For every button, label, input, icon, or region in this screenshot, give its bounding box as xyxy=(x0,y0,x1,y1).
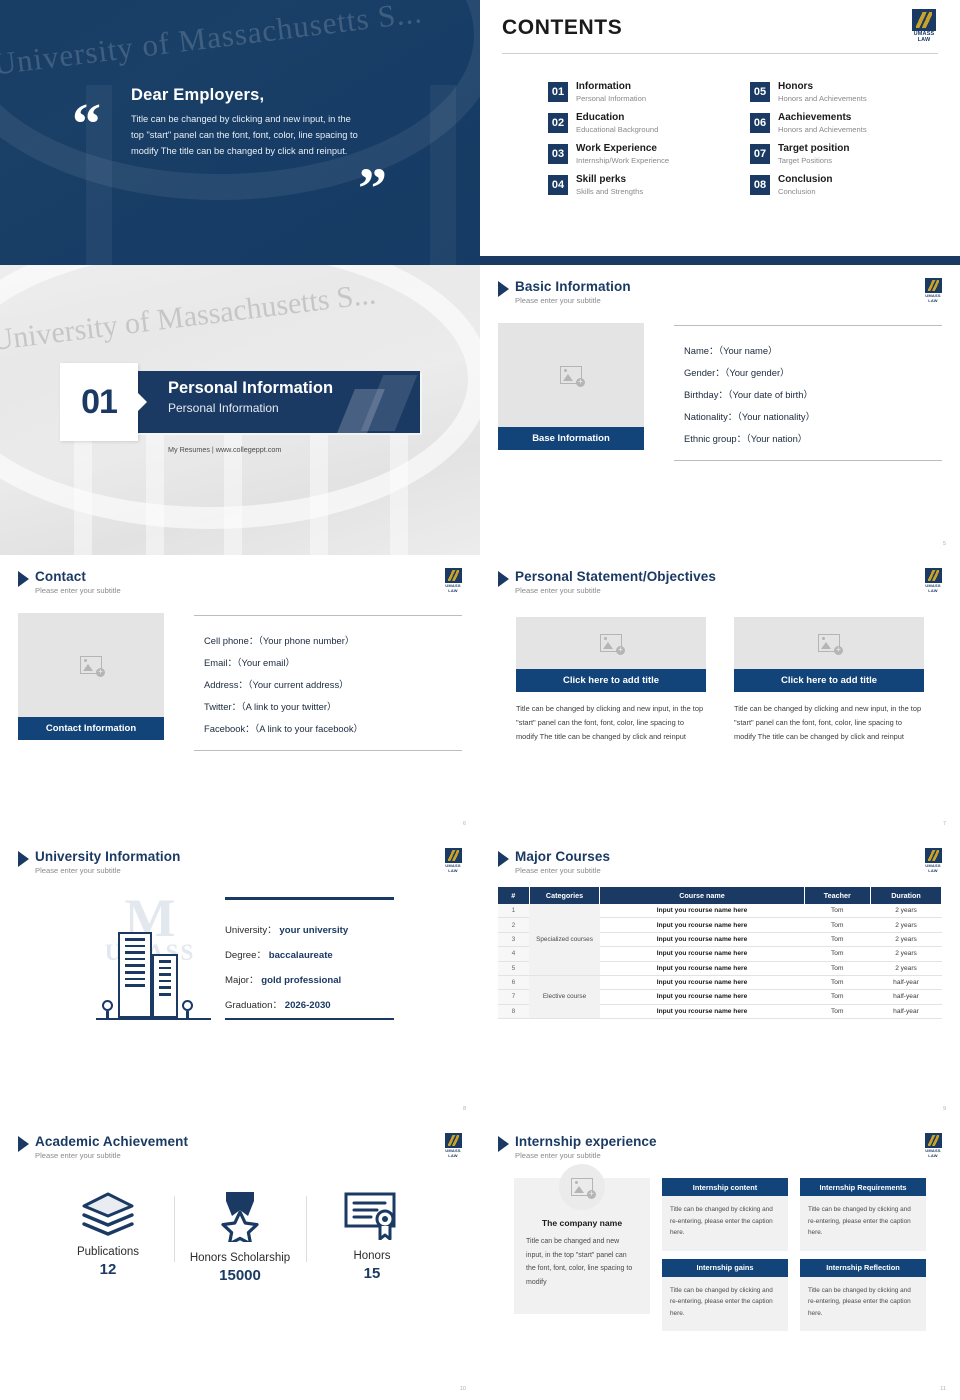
quote-open-icon: “ xyxy=(72,95,101,153)
cell-teacher: Tom xyxy=(804,918,871,932)
umass-monogram-icon xyxy=(925,848,942,863)
page-number: 7 xyxy=(943,821,946,827)
cell-duration: 2 years xyxy=(871,932,942,946)
bottom-rule xyxy=(674,460,942,461)
bottom-rule xyxy=(194,750,462,751)
cell-course: Input you rcourse name here xyxy=(600,918,804,932)
cell-duration: 2 years xyxy=(871,961,942,975)
umass-law-logo-icon: UMASS LAW xyxy=(906,7,942,45)
contact-field-facebook: Facebook：（A link to your facebook） xyxy=(204,718,462,740)
cover-quote-block: Dear Employers, Title can be changed by … xyxy=(131,86,361,159)
triangle-bullet-icon xyxy=(18,1136,29,1152)
col-course: Course name xyxy=(600,887,804,904)
cell-index: 3 xyxy=(498,932,529,946)
triangle-bullet-icon xyxy=(18,851,29,867)
contact-fields: Cell phone：（Your phone number） Email：（Yo… xyxy=(194,613,462,751)
slide-basic-information[interactable]: UMASS LAW Basic Information Please enter… xyxy=(480,265,960,555)
logo-line-2: LAW xyxy=(928,868,938,873)
photo-card[interactable]: + Base Information xyxy=(498,323,644,461)
info-field-ethnic-group: Ethnic group：（Your nation） xyxy=(684,428,942,450)
internship-card-content[interactable]: Internship content Title can be changed … xyxy=(662,1178,788,1251)
toc-number-badge: 01 xyxy=(548,82,568,102)
cell-teacher: Tom xyxy=(804,975,871,989)
statement-card-text: Title can be changed by clicking and new… xyxy=(516,702,706,744)
chevron-right-icon xyxy=(138,393,147,411)
toc-number-badge: 06 xyxy=(750,113,770,133)
internship-card-grid: Internship content Title can be changed … xyxy=(662,1178,926,1331)
contact-field-email: Email：（Your email） xyxy=(204,652,462,674)
certificate-icon xyxy=(343,1190,401,1240)
umass-law-logo-icon: UMASS LAW xyxy=(920,277,946,303)
toc-item-subtitle: Honors and Achievements xyxy=(778,124,867,135)
stat-label: Honors xyxy=(306,1250,438,1262)
quote-close-icon: ” xyxy=(358,160,387,218)
medal-icon xyxy=(212,1190,268,1242)
contents-bottom-bar xyxy=(480,256,960,265)
slide-internship-experience[interactable]: UMASS LAW Internship experience Please e… xyxy=(480,1120,960,1400)
page-number: 10 xyxy=(460,1386,466,1392)
logo-line-2: LAW xyxy=(448,588,458,593)
toc-item-title: Education xyxy=(576,112,658,124)
column-decoration-right xyxy=(430,85,456,265)
image-placeholder[interactable]: + xyxy=(559,1164,605,1210)
image-placeholder[interactable]: + xyxy=(18,613,164,717)
divider-number-badge: 01 xyxy=(60,363,138,441)
table-row: 6Elective courseInput you rcourse name h… xyxy=(498,975,942,989)
toc-item-06[interactable]: 06 Aachievements Honors and Achievements xyxy=(750,112,938,135)
card-body: Title can be changed by clicking and re-… xyxy=(662,1277,788,1332)
row-label: Graduation： xyxy=(225,1000,282,1011)
cell-teacher: Tom xyxy=(804,947,871,961)
info-field-nationality: Nationality：（Your nationality） xyxy=(684,406,942,428)
slide-header: University Information Please enter your… xyxy=(18,849,462,875)
triangle-bullet-icon xyxy=(498,1136,509,1152)
add-image-icon: + xyxy=(571,1178,593,1196)
contact-field-twitter: Twitter：（A link to your twitter） xyxy=(204,696,462,718)
internship-body: + The company name Title can be changed … xyxy=(498,1178,942,1331)
card-body: Title can be changed by clicking and re-… xyxy=(800,1196,926,1251)
cell-course: Input you rcourse name here xyxy=(600,990,804,1004)
card-heading: Internship content xyxy=(662,1178,788,1196)
image-placeholder[interactable]: + xyxy=(734,617,924,669)
statement-card-text: Title can be changed by clicking and new… xyxy=(734,702,924,744)
cell-course: Input you rcourse name here xyxy=(600,932,804,946)
row-label: Major： xyxy=(225,975,259,986)
triangle-bullet-icon xyxy=(18,571,29,587)
university-row-university: University： your university xyxy=(225,918,394,943)
umass-law-logo-icon: UMASS LAW xyxy=(920,847,946,873)
logo-line-2: LAW xyxy=(928,1153,938,1158)
slide-personal-statement[interactable]: UMASS LAW Personal Statement/Objectives … xyxy=(480,555,960,835)
add-image-icon: + xyxy=(560,366,582,384)
stat-value: 15 xyxy=(306,1265,438,1282)
image-placeholder[interactable]: + xyxy=(498,323,644,427)
toc-item-subtitle: Skills and Strengths xyxy=(576,186,643,197)
page-subtitle: Please enter your subtitle xyxy=(35,1151,188,1160)
campus-buildings-icon xyxy=(96,921,211,1026)
logo-line-2: LAW xyxy=(448,1153,458,1158)
page-title: Academic Achievement xyxy=(35,1134,188,1149)
info-field-gender: Gender：（Your gender） xyxy=(684,362,942,384)
toc-item-04[interactable]: 04 Skill perks Skills and Strengths xyxy=(548,174,736,197)
card-heading: Internship Requirements xyxy=(800,1178,926,1196)
row-value: baccalaureate xyxy=(269,950,333,961)
cell-duration: half-year xyxy=(871,975,942,989)
photo-caption-bar: Base Information xyxy=(498,427,644,450)
page-number: 8 xyxy=(463,1106,466,1112)
cell-teacher: Tom xyxy=(804,990,871,1004)
cell-teacher: Tom xyxy=(804,1004,871,1018)
slide-deck-contact-sheet: University of Massachusetts S... “ Dear … xyxy=(0,0,960,1400)
toc-item-title: Target position xyxy=(778,143,849,155)
slide-cover-dear-employers[interactable]: University of Massachusetts S... “ Dear … xyxy=(0,0,480,265)
page-title: University Information xyxy=(35,849,180,864)
toc-number-badge: 04 xyxy=(548,175,568,195)
page-subtitle: Please enter your subtitle xyxy=(515,866,610,875)
umass-monogram-icon xyxy=(445,568,462,583)
card-body: Title can be changed by clicking and re-… xyxy=(662,1196,788,1251)
slide-header: Contact Please enter your subtitle xyxy=(18,569,462,595)
cell-category: Elective course xyxy=(529,975,600,1018)
cell-index: 7 xyxy=(498,990,529,1004)
stat-honors: Honors 15 xyxy=(306,1190,438,1284)
stat-value: 15000 xyxy=(174,1267,306,1284)
page-title: Contact xyxy=(35,569,121,584)
page-subtitle: Please enter your subtitle xyxy=(35,586,121,595)
col-teacher: Teacher xyxy=(804,887,871,904)
stat-label: Publications xyxy=(42,1246,174,1258)
cell-teacher: Tom xyxy=(804,961,871,975)
books-icon xyxy=(80,1190,136,1236)
triangle-bullet-icon xyxy=(498,571,509,587)
umass-monogram-icon xyxy=(925,1133,942,1148)
contents-divider-rule xyxy=(502,53,938,54)
courses-table[interactable]: # Categories Course name Teacher Duratio… xyxy=(498,887,942,1019)
toc-item-title: Honors xyxy=(778,81,867,93)
cell-index: 4 xyxy=(498,947,529,961)
cell-teacher: Tom xyxy=(804,932,871,946)
cell-duration: half-year xyxy=(871,1004,942,1018)
umass-law-logo-icon: UMASS LAW xyxy=(440,847,466,873)
page-title: Major Courses xyxy=(515,849,610,864)
toc-number-badge: 05 xyxy=(750,82,770,102)
logo-line-2: LAW xyxy=(448,868,458,873)
page-number: 11 xyxy=(940,1386,946,1392)
col-index: # xyxy=(498,887,529,904)
cell-course: Input you rcourse name here xyxy=(600,961,804,975)
contact-field-cell-phone: Cell phone：（Your phone number） xyxy=(204,630,462,652)
row-value: 2026-2030 xyxy=(285,1000,331,1011)
add-title-button[interactable]: Click here to add title xyxy=(734,669,924,692)
toc-item-subtitle: Conclusion xyxy=(778,186,832,197)
cell-duration: 2 years xyxy=(871,904,942,918)
slide-university-information[interactable]: UMASS LAW University Information Please … xyxy=(0,835,480,1120)
cover-title: Dear Employers, xyxy=(131,86,361,105)
toc-item-08[interactable]: 08 Conclusion Conclusion xyxy=(750,174,938,197)
slide-contents[interactable]: UMASS LAW CONTENTS 01 Information Person… xyxy=(480,0,960,265)
divider-footer-credit: My Resumes | www.collegeppt.com xyxy=(168,445,281,454)
table-row: 1Specialized coursesInput you rcourse na… xyxy=(498,904,942,918)
contact-field-address: Address：（Your current address） xyxy=(204,674,462,696)
toc-item-07[interactable]: 07 Target position Target Positions xyxy=(750,143,938,166)
statement-card-2[interactable]: + Click here to add title Title can be c… xyxy=(734,617,924,744)
stat-honors-scholarship: Honors Scholarship 15000 xyxy=(174,1190,306,1284)
toc-number-badge: 07 xyxy=(750,144,770,164)
add-image-icon: + xyxy=(818,634,840,652)
toc-number-badge: 02 xyxy=(548,113,568,133)
cell-duration: 2 years xyxy=(871,918,942,932)
university-row-degree: Degree： baccalaureate xyxy=(225,943,394,968)
slide-header: Internship experience Please enter your … xyxy=(498,1134,942,1160)
row-value: your university xyxy=(279,925,348,936)
table-header-row: # Categories Course name Teacher Duratio… xyxy=(498,887,942,904)
slide-header: Personal Statement/Objectives Please ent… xyxy=(498,569,942,595)
page-number: 5 xyxy=(943,541,946,547)
slide-header: Basic Information Please enter your subt… xyxy=(498,279,942,305)
logo-line-2: LAW xyxy=(928,588,938,593)
add-title-button[interactable]: Click here to add title xyxy=(516,669,706,692)
add-image-icon: + xyxy=(80,656,102,674)
page-number: 6 xyxy=(463,821,466,827)
company-panel[interactable]: + The company name Title can be changed … xyxy=(514,1178,650,1331)
page-subtitle: Please enter your subtitle xyxy=(515,1151,657,1160)
umass-law-logo-icon: UMASS LAW xyxy=(440,567,466,593)
basic-info-body: + Base Information Name：（Your name） Gend… xyxy=(498,323,942,461)
col-category: Categories xyxy=(529,887,600,904)
image-placeholder[interactable]: + xyxy=(516,617,706,669)
stat-publications: Publications 12 xyxy=(42,1190,174,1284)
toc-item-03[interactable]: 03 Work Experience Internship/Work Exper… xyxy=(548,143,736,166)
achievement-stats-row: Publications 12 Honors Scholarship 15000 xyxy=(18,1190,462,1284)
bottom-rule xyxy=(225,1018,394,1021)
slide-major-courses[interactable]: UMASS LAW Major Courses Please enter you… xyxy=(480,835,960,1120)
toc-item-title: Work Experience xyxy=(576,143,669,155)
divider-subtitle: Personal Information xyxy=(168,401,279,415)
cell-index: 2 xyxy=(498,918,529,932)
toc-item-subtitle: Internship/Work Experience xyxy=(576,155,669,166)
toc-item-subtitle: Target Positions xyxy=(778,155,849,166)
statement-card-1[interactable]: + Click here to add title Title can be c… xyxy=(516,617,706,744)
stat-value: 12 xyxy=(42,1261,174,1278)
cell-duration: half-year xyxy=(871,990,942,1004)
logo-line-2: LAW xyxy=(918,37,931,44)
slide-header: Major Courses Please enter your subtitle xyxy=(498,849,942,875)
add-image-icon: + xyxy=(600,634,622,652)
umass-monogram-icon xyxy=(925,568,942,583)
basic-info-fields: Name：（Your name） Gender：（Your gender） Bi… xyxy=(674,323,942,461)
toc-item-title: Conclusion xyxy=(778,174,832,186)
toc-item-subtitle: Honors and Achievements xyxy=(778,93,867,104)
toc-item-subtitle: Educational Background xyxy=(576,124,658,135)
university-body: M UMASS LAW University： your university … xyxy=(18,887,462,1037)
card-heading: Internship Reflection xyxy=(800,1259,926,1277)
toc-item-title: Skill perks xyxy=(576,174,643,186)
page-number: 9 xyxy=(943,1106,946,1112)
toc-number-badge: 03 xyxy=(548,144,568,164)
card-body: Title can be changed by clicking and re-… xyxy=(800,1277,926,1332)
university-row-graduation: Graduation： 2026-2030 xyxy=(225,993,394,1018)
cell-index: 5 xyxy=(498,961,529,975)
cell-course: Input you rcourse name here xyxy=(600,1004,804,1018)
page-title: Basic Information xyxy=(515,279,631,294)
company-name: The company name xyxy=(526,1218,638,1228)
page-subtitle: Please enter your subtitle xyxy=(515,296,631,305)
slide-section-divider-01[interactable]: University of Massachusetts S... 01 Pers… xyxy=(0,265,480,555)
toc-item-02[interactable]: 02 Education Educational Background xyxy=(548,112,736,135)
divider-title: Personal Information xyxy=(168,379,333,398)
card-heading: Internship gains xyxy=(662,1259,788,1277)
info-field-name: Name：（Your name） xyxy=(684,340,942,362)
page-title: Internship experience xyxy=(515,1134,657,1149)
triangle-bullet-icon xyxy=(498,851,509,867)
toc-item-title: Aachievements xyxy=(778,112,867,124)
info-field-birthday: Birthday：（Your date of birth） xyxy=(684,384,942,406)
umass-monogram-icon xyxy=(912,9,936,31)
logo-line-2: LAW xyxy=(928,298,938,303)
row-label: Degree： xyxy=(225,950,266,961)
contact-body: + Contact Information Cell phone：（Your p… xyxy=(18,613,462,751)
slide-header: Academic Achievement Please enter your s… xyxy=(18,1134,462,1160)
cell-index: 6 xyxy=(498,975,529,989)
contents-title: CONTENTS xyxy=(502,16,938,40)
toc-number-badge: 08 xyxy=(750,175,770,195)
umass-law-logo-icon: UMASS LAW xyxy=(440,1132,466,1158)
internship-card-gains[interactable]: Internship gains Title can be changed by… xyxy=(662,1259,788,1332)
triangle-bullet-icon xyxy=(498,281,509,297)
internship-card-requirements[interactable]: Internship Requirements Title can be cha… xyxy=(800,1178,926,1251)
row-label: University： xyxy=(225,925,277,936)
cell-teacher: Tom xyxy=(804,904,871,918)
toc-item-01[interactable]: 01 Information Personal Information xyxy=(548,81,736,104)
toc-item-subtitle: Personal Information xyxy=(576,93,646,104)
umass-law-logo-icon: UMASS LAW xyxy=(920,1132,946,1158)
page-title: Personal Statement/Objectives xyxy=(515,569,716,584)
slide-contact[interactable]: UMASS LAW Contact Please enter your subt… xyxy=(0,555,480,835)
umass-law-logo-icon: UMASS LAW xyxy=(920,567,946,593)
company-description: Title can be changed and new input, in t… xyxy=(526,1235,638,1289)
page-subtitle: Please enter your subtitle xyxy=(35,866,180,875)
col-duration: Duration xyxy=(871,887,942,904)
toc-item-title: Information xyxy=(576,81,646,93)
cell-duration: 2 years xyxy=(871,947,942,961)
photo-card[interactable]: + Contact Information xyxy=(18,613,164,751)
cell-course: Input you rcourse name here xyxy=(600,947,804,961)
cell-course: Input you rcourse name here xyxy=(600,904,804,918)
cover-body-text: Title can be changed by clicking and new… xyxy=(131,111,361,159)
cell-index: 1 xyxy=(498,904,529,918)
statement-card-row: + Click here to add title Title can be c… xyxy=(498,617,942,744)
university-fields: University： your university Degree： bacc… xyxy=(225,897,394,1027)
photo-caption-bar: Contact Information xyxy=(18,717,164,740)
cell-course: Input you rcourse name here xyxy=(600,975,804,989)
contents-list: 01 Information Personal Information 05 H… xyxy=(548,81,938,197)
toc-item-05[interactable]: 05 Honors Honors and Achievements xyxy=(750,81,938,104)
internship-card-reflection[interactable]: Internship Reflection Title can be chang… xyxy=(800,1259,926,1332)
cell-category: Specialized courses xyxy=(529,904,600,975)
row-value: gold professional xyxy=(261,975,341,986)
university-row-major: Major： gold professional xyxy=(225,968,394,993)
page-subtitle: Please enter your subtitle xyxy=(515,586,716,595)
umass-monogram-icon xyxy=(445,848,462,863)
cell-index: 8 xyxy=(498,1004,529,1018)
slide-academic-achievement[interactable]: UMASS LAW Academic Achievement Please en… xyxy=(0,1120,480,1400)
umass-monogram-icon xyxy=(925,278,942,293)
stat-label: Honors Scholarship xyxy=(174,1252,306,1264)
umass-monogram-icon xyxy=(445,1133,462,1148)
